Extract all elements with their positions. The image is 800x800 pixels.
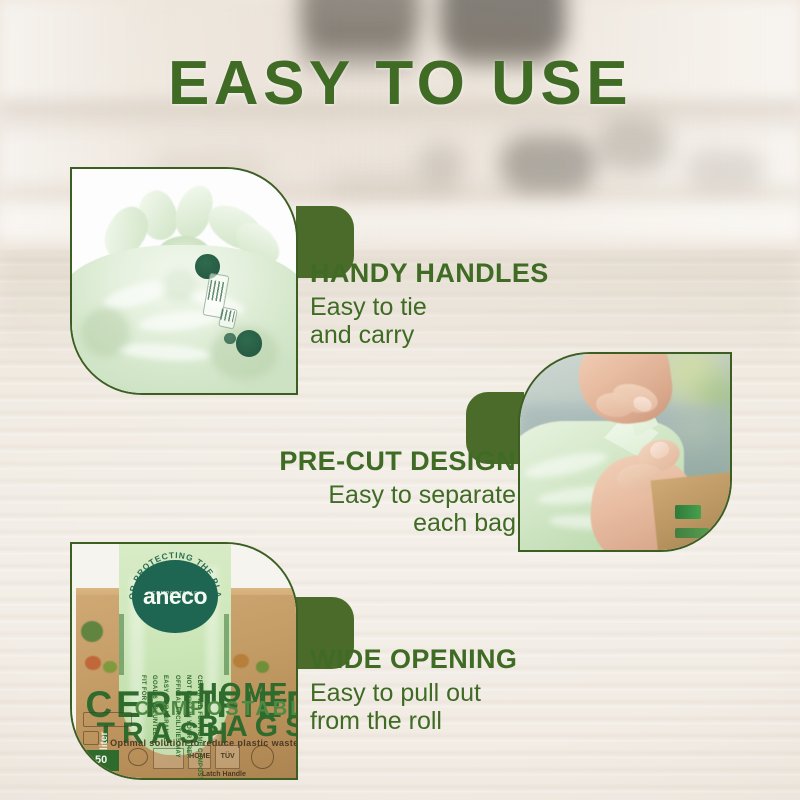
feature-text-wide-opening: WIDE OPENING Easy to pull out from the r… <box>310 644 610 735</box>
feature-body: Easy to tie and carry <box>310 293 610 349</box>
box-side-claim: GOAL 6 VOLUNTEER <box>151 675 157 741</box>
feature-heading: HANDY HANDLES <box>310 258 610 289</box>
photo-tied-bag <box>72 169 296 393</box>
feature-body: Easy to separate each bag <box>250 481 516 537</box>
feature-image-pre-cut-design <box>518 352 732 552</box>
box-side-claim: FIT FOR <box>140 675 146 700</box>
aneco-wordmark-sub: COMPOSTABLE <box>132 560 217 633</box>
cert-tuv: TÜV <box>215 745 240 768</box>
box-side-claim: EASY & FRAGRANCE <box>162 675 168 742</box>
box-volume-unit: liter <box>99 732 110 750</box>
page-title: EASY TO USE <box>0 48 800 119</box>
box-handle-note: Latch Handle <box>202 771 246 778</box>
photo-hands-separating-bag <box>520 354 730 550</box>
photo-aneco-box: THANK YOU FOR PROTECTING THE PLANET WITH… <box>72 544 296 778</box>
feature-image-handy-handles <box>70 167 298 395</box>
feature-heading: PRE-CUT DESIGN <box>250 446 516 477</box>
box-side-claim: NOT EXIST IN YOUR AREA <box>185 675 191 758</box>
feature-image-wide-opening: THANK YOU FOR PROTECTING THE PLANET WITH… <box>70 542 298 780</box>
feature-body: Easy to pull out from the roll <box>310 679 610 735</box>
box-side-claim: OFFICIAL FACILITIES MAY <box>174 675 180 758</box>
feature-text-pre-cut-design: PRE-CUT DESIGN Easy to separate each bag <box>250 446 516 537</box>
infographic-canvas: EASY TO USE <box>0 0 800 800</box>
feature-text-handy-handles: HANDY HANDLES Easy to tie and carry <box>310 258 610 349</box>
feature-heading: WIDE OPENING <box>310 644 610 675</box>
box-side-claim: CERTIFIED FOR HOME COMPOSTING <box>196 675 202 780</box>
box-volume: 50 <box>83 750 119 771</box>
